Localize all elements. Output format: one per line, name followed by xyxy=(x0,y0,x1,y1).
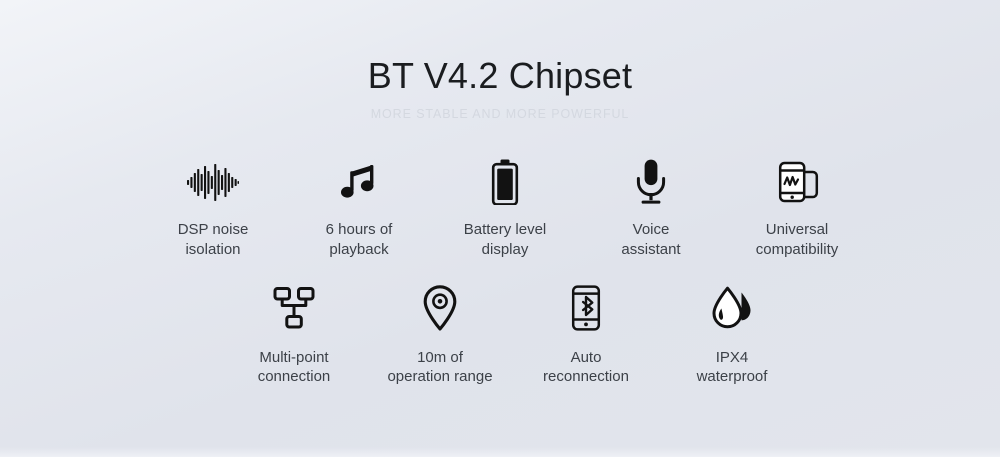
feature-battery-level: Battery level display xyxy=(440,156,570,260)
phone-bluetooth-icon xyxy=(570,282,602,334)
feature-row-2: Multi-point connection 10m of operation … xyxy=(0,282,1000,388)
feature-label: IPX4 waterproof xyxy=(697,348,768,388)
feature-operation-range: 10m of operation range xyxy=(375,282,505,388)
feature-multipoint-connection: Multi-point connection xyxy=(229,282,359,388)
feature-dsp-noise-isolation: DSP noise isolation xyxy=(148,156,278,260)
feature-playback-hours: 6 hours of playback xyxy=(294,156,424,260)
page-subtitle: MORE STABLE AND MORE POWERFUL xyxy=(0,108,1000,121)
feature-universal-compatibility: Universal compatibility xyxy=(732,156,862,260)
battery-icon xyxy=(490,156,520,208)
feature-label: Battery level display xyxy=(464,220,547,260)
feature-label: 6 hours of playback xyxy=(326,220,393,260)
water-drop-icon xyxy=(710,282,754,334)
network-nodes-icon xyxy=(273,282,315,334)
location-pin-icon xyxy=(423,282,457,334)
page-title: BT V4.2 Chipset xyxy=(0,56,1000,96)
audio-waveform-icon xyxy=(187,156,239,208)
feature-label: 10m of operation range xyxy=(387,348,492,388)
feature-banner: BT V4.2 Chipset MORE STABLE AND MORE POW… xyxy=(0,0,1000,457)
music-note-icon xyxy=(339,156,379,208)
feature-voice-assistant: Voice assistant xyxy=(586,156,716,260)
microphone-icon xyxy=(634,156,668,208)
feature-label: DSP noise isolation xyxy=(178,220,249,260)
feature-label: Auto reconnection xyxy=(543,348,629,388)
feature-label: Multi-point connection xyxy=(258,348,331,388)
feature-row-1: DSP noise isolation 6 hours of playback xyxy=(0,156,1000,260)
devices-compatibility-icon xyxy=(774,156,820,208)
feature-auto-reconnection: Auto reconnection xyxy=(521,282,651,388)
feature-label: Voice assistant xyxy=(621,220,680,260)
feature-label: Universal compatibility xyxy=(756,220,839,260)
banner-heading: BT V4.2 Chipset MORE STABLE AND MORE POW… xyxy=(0,0,1000,120)
feature-ipx4-waterproof: IPX4 waterproof xyxy=(667,282,797,388)
